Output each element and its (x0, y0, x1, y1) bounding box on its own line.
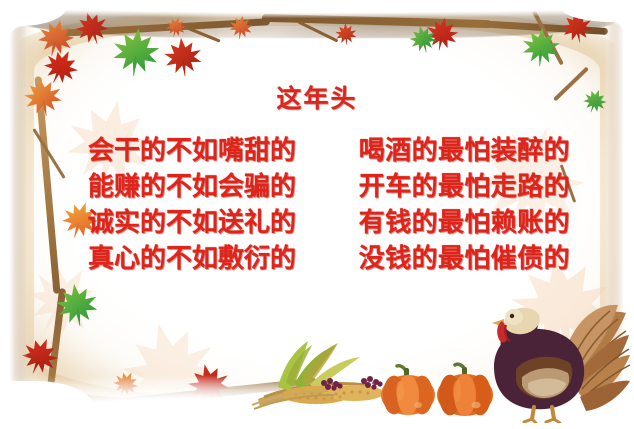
verse-line: 有钱的最怕赖账的 (359, 205, 570, 241)
verse-line: 诚实的不如送礼的 (88, 205, 296, 241)
maple-leaf-bottom-red-icon (182, 358, 237, 413)
verse-column-right: 喝酒的最怕装醉的 开车的最怕走路的 有钱的最怕赖账的 没钱的最怕催债的 (359, 133, 570, 277)
turkey-icon (450, 297, 630, 423)
maple-leaf-tr-green-icon (519, 25, 564, 70)
verse-line: 真心的不如敷衍的 (88, 241, 296, 277)
verse-line: 开车的最怕走路的 (359, 169, 570, 205)
verse-line: 喝酒的最怕装醉的 (359, 133, 570, 169)
verse-columns: 会干的不如嘴甜的 能赚的不如会骗的 诚实的不如送礼的 真心的不如敷衍的 喝酒的最… (88, 133, 570, 277)
pumpkin-left-icon (378, 363, 438, 417)
maple-leaf-top-red-icon (160, 34, 206, 80)
poster-title: 这年头 (0, 84, 634, 114)
verse-column-left: 会干的不如嘴甜的 能赚的不如会骗的 诚实的不如送礼的 真心的不如敷衍的 (88, 133, 296, 277)
maple-leaf-green-icon (107, 23, 164, 80)
maple-leaf-top-small-icon (333, 21, 359, 47)
autumn-quote-poster: 这年头 会干的不如嘴甜的 能赚的不如会骗的 诚实的不如送礼的 真心的不如敷衍的 … (0, 0, 634, 429)
verse-line: 会干的不如嘴甜的 (88, 133, 296, 169)
maple-leaf-green-lower-icon (51, 279, 103, 331)
verse-line: 没钱的最怕催债的 (359, 241, 570, 277)
verse-line: 能赚的不如会骗的 (88, 169, 296, 205)
maple-leaf-top-orange-icon (226, 12, 255, 41)
